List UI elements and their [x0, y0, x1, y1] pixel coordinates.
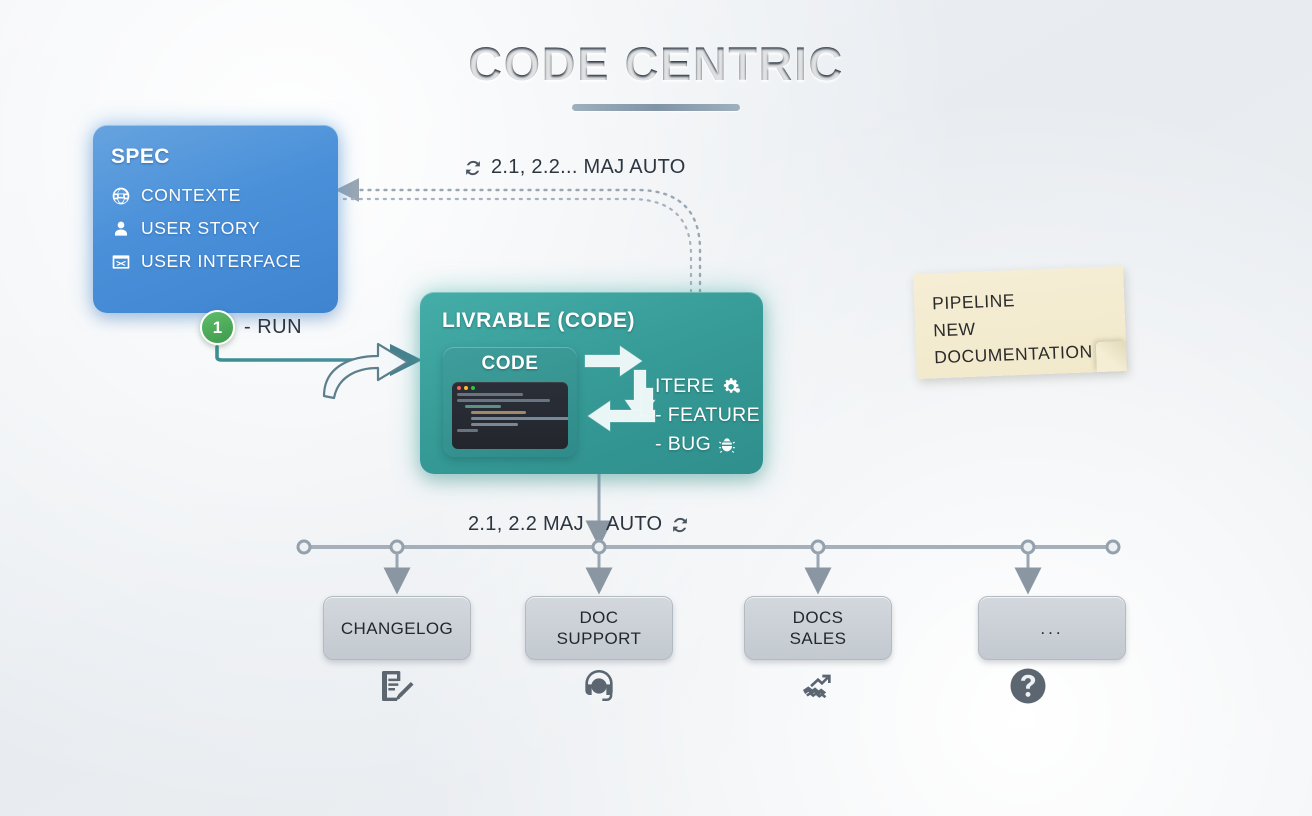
note-pencil-icon [369, 663, 425, 709]
diagram-canvas: CODE CENTRIC SPEC CONTEXTE USER STORY US… [0, 0, 1312, 816]
feedback-dotted-arrow-outer [340, 190, 700, 292]
refresh-icon [462, 157, 484, 179]
iteration-list: ITERE - FEATURE - BUG [655, 372, 760, 459]
output-card-label-line2: SUPPORT [557, 629, 642, 648]
question-circle-icon [1000, 663, 1056, 709]
iteration-label: - BUG [655, 433, 711, 456]
spec-to-livrable-arrow [217, 347, 415, 360]
page-title-wrap: CODE CENTRIC [0, 36, 1312, 111]
pipeline-label-left: 2.1, 2.2 MAJ [468, 513, 584, 536]
image-window-icon [111, 252, 131, 272]
page-title: CODE CENTRIC [468, 36, 844, 91]
pipeline-label-right: AUTO [606, 513, 691, 536]
iteration-item-bug: - BUG [655, 430, 760, 459]
run-curved-arrow [324, 344, 408, 398]
user-icon [111, 219, 131, 239]
handshake-chart-icon [790, 663, 846, 709]
refresh-icon [669, 514, 691, 536]
iteration-label: - FEATURE [655, 404, 760, 427]
spec-title: SPEC [111, 145, 320, 169]
livrable-card[interactable]: LIVRABLE (CODE) CODE [420, 292, 763, 474]
sticky-note-line: DOCUMENTATION [934, 338, 1109, 372]
output-card-label-line1: DOC [580, 608, 619, 627]
pipeline-label-left-text: 2.1, 2.2 MAJ [468, 513, 584, 536]
spec-item-label: USER STORY [141, 218, 260, 239]
output-card-doc-support[interactable]: DOC SUPPORT [525, 596, 673, 660]
output-card-label: ... [1040, 618, 1063, 639]
output-card-label: DOCS SALES [790, 607, 847, 649]
spec-card[interactable]: SPEC CONTEXTE USER STORY USER INTERFACE [93, 125, 338, 313]
spec-item-user-story[interactable]: USER STORY [111, 212, 320, 245]
output-card-label: DOC SUPPORT [557, 607, 642, 649]
spec-item-user-interface[interactable]: USER INTERFACE [111, 245, 320, 278]
sticky-note-curl [1096, 341, 1127, 372]
globe-icon [111, 186, 131, 206]
bug-icon [717, 435, 737, 455]
feedback-label-text: 2.1, 2.2... MAJ AUTO [491, 156, 686, 179]
timeline-nodes [298, 541, 1119, 553]
headset-icon [571, 663, 627, 709]
spec-item-contexte[interactable]: CONTEXTE [111, 179, 320, 212]
output-card-label-line1: DOCS [793, 608, 844, 627]
output-card-changelog[interactable]: CHANGELOG [323, 596, 471, 660]
title-underline [572, 104, 740, 111]
iteration-label: ITERE [655, 375, 714, 398]
run-label: - RUN [244, 316, 302, 339]
run-step-badge[interactable]: 1 [200, 310, 235, 345]
output-card-docs-sales[interactable]: DOCS SALES [744, 596, 892, 660]
output-card-label-line2: SALES [790, 629, 847, 648]
spec-item-label: USER INTERFACE [141, 251, 301, 272]
sticky-note[interactable]: PIPELINE NEW DOCUMENTATION [913, 266, 1127, 379]
gears-icon [720, 376, 741, 397]
iteration-item-itere: ITERE [655, 372, 760, 401]
output-card-more[interactable]: ... [978, 596, 1126, 660]
spec-item-label: CONTEXTE [141, 185, 241, 206]
sparkle-icon [1220, 716, 1274, 774]
output-card-label: CHANGELOG [341, 618, 453, 639]
feedback-dotted-arrow-inner [342, 199, 691, 292]
pipeline-label-right-text: AUTO [606, 513, 662, 536]
iteration-item-feature: - FEATURE [655, 401, 760, 430]
feedback-label: 2.1, 2.2... MAJ AUTO [462, 156, 686, 179]
